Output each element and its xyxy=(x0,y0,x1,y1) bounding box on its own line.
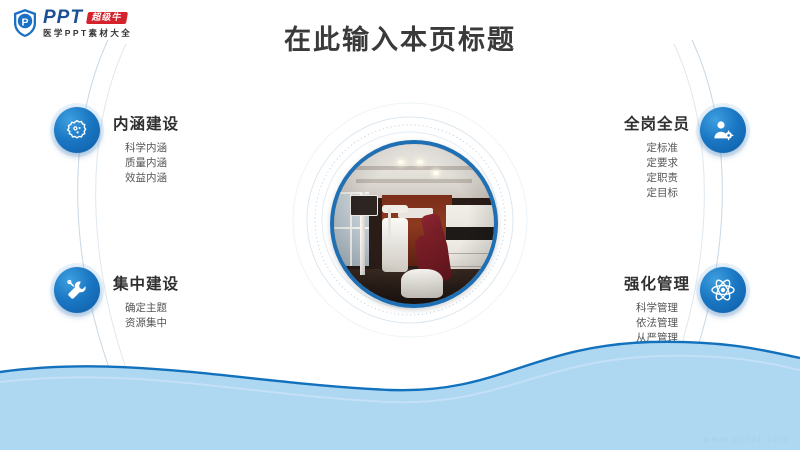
block-title-jizhong: 集中建设 xyxy=(113,272,179,294)
icon-bubble-qianghua[interactable] xyxy=(700,267,746,313)
list-item: 效益内涵 xyxy=(125,171,179,186)
list-item: 定要求 xyxy=(560,156,678,171)
wrench-icon xyxy=(65,278,89,302)
list-item: 质量内涵 xyxy=(125,156,179,171)
block-quangang: 全岗全员 定标准 定要求 定职责 定目标 xyxy=(560,112,690,201)
block-neihan: 内涵建设 科学内涵 质量内涵 效益内涵 xyxy=(113,112,179,186)
list-item: 定标准 xyxy=(560,141,678,156)
list-item: 定职责 xyxy=(560,171,678,186)
block-title-neihan: 内涵建设 xyxy=(113,112,179,134)
icon-bubble-quangang[interactable] xyxy=(700,107,746,153)
page-title: 在此输入本页标题 xyxy=(0,18,800,57)
block-title-qianghua: 强化管理 xyxy=(560,272,690,294)
block-list-quangang: 定标准 定要求 定职责 定目标 xyxy=(560,141,690,201)
watermark: www.pptei.com xyxy=(703,434,790,444)
gear-icon xyxy=(65,118,89,142)
list-item: 确定主题 xyxy=(125,301,179,316)
slide-canvas: P PPT 超级牛 医学PPT素材大全 在此输入本页标题 xyxy=(0,0,800,450)
block-title-quangang: 全岗全员 xyxy=(560,112,690,134)
icon-bubble-jizhong[interactable] xyxy=(54,267,100,313)
list-item: 科学内涵 xyxy=(125,141,179,156)
list-item: 定目标 xyxy=(560,186,678,201)
block-list-neihan: 科学内涵 质量内涵 效益内涵 xyxy=(113,141,179,186)
dental-clinic-image xyxy=(334,144,494,304)
list-item: 科学管理 xyxy=(560,301,678,316)
center-photo xyxy=(330,140,498,308)
atom-icon xyxy=(710,277,736,303)
bottom-wave-decoration xyxy=(0,320,800,450)
user-gear-icon xyxy=(711,118,735,142)
icon-bubble-neihan[interactable] xyxy=(54,107,100,153)
